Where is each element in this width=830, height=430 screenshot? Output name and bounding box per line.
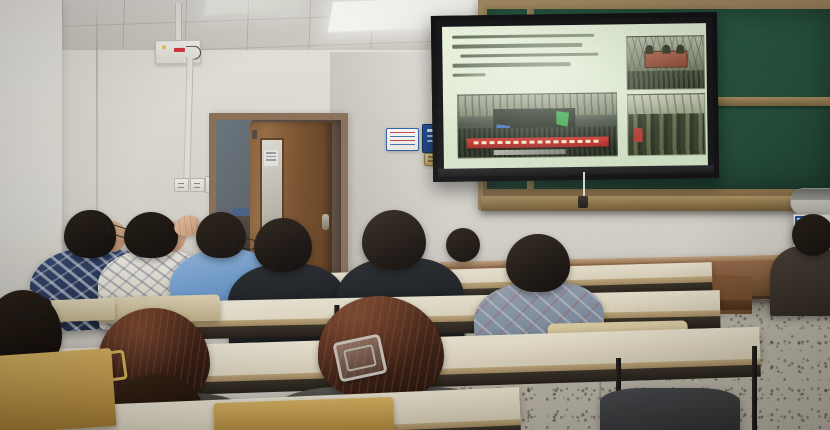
classroom-photo xyxy=(0,0,830,430)
screen-pull-cord[interactable] xyxy=(583,172,585,198)
photo-person-head xyxy=(662,45,670,54)
photo-crowd-row xyxy=(628,71,704,90)
head xyxy=(792,214,830,256)
person-front-right-torso xyxy=(600,388,740,430)
wall-air-vent xyxy=(790,188,830,216)
junction-indicator-dot xyxy=(162,45,166,49)
chalk-tray xyxy=(481,196,830,211)
photo-banner-text xyxy=(474,140,602,145)
screen-cord-weight[interactable] xyxy=(578,196,588,208)
head xyxy=(64,210,116,258)
wall-conduit-upper xyxy=(175,3,182,43)
outlet-slots-icon xyxy=(194,183,200,188)
junction-indicator-led xyxy=(174,48,185,52)
slide-photo-assembly xyxy=(457,92,618,158)
seat-back-row1-center xyxy=(213,397,394,430)
wall-outlet-1[interactable] xyxy=(174,178,189,192)
photo-red-accent xyxy=(633,128,642,142)
torso xyxy=(770,246,830,316)
person-partial-head xyxy=(446,228,480,262)
head xyxy=(362,210,426,270)
photo-person-head xyxy=(646,45,654,54)
wall-outlet-2[interactable] xyxy=(190,178,205,192)
photo-person-head xyxy=(676,45,684,54)
electrical-junction-box[interactable] xyxy=(155,40,201,65)
photo-red-banner xyxy=(466,137,608,149)
slide-photo-top-right xyxy=(626,35,705,90)
photo-lower-caption-bar xyxy=(493,149,566,155)
seat-back-row1-left xyxy=(0,348,117,430)
slide-photo-bottom-right xyxy=(627,93,706,156)
projection-screen xyxy=(431,12,719,182)
outlet-slots-icon xyxy=(178,183,184,188)
slide-text-lines xyxy=(452,34,601,83)
head xyxy=(506,234,570,292)
desk-leg xyxy=(752,346,757,430)
vent-shade xyxy=(791,189,830,200)
head xyxy=(254,218,312,272)
head xyxy=(124,212,178,258)
presentation-slide xyxy=(442,23,708,171)
white-notice-sign xyxy=(386,128,419,151)
head xyxy=(196,212,246,258)
